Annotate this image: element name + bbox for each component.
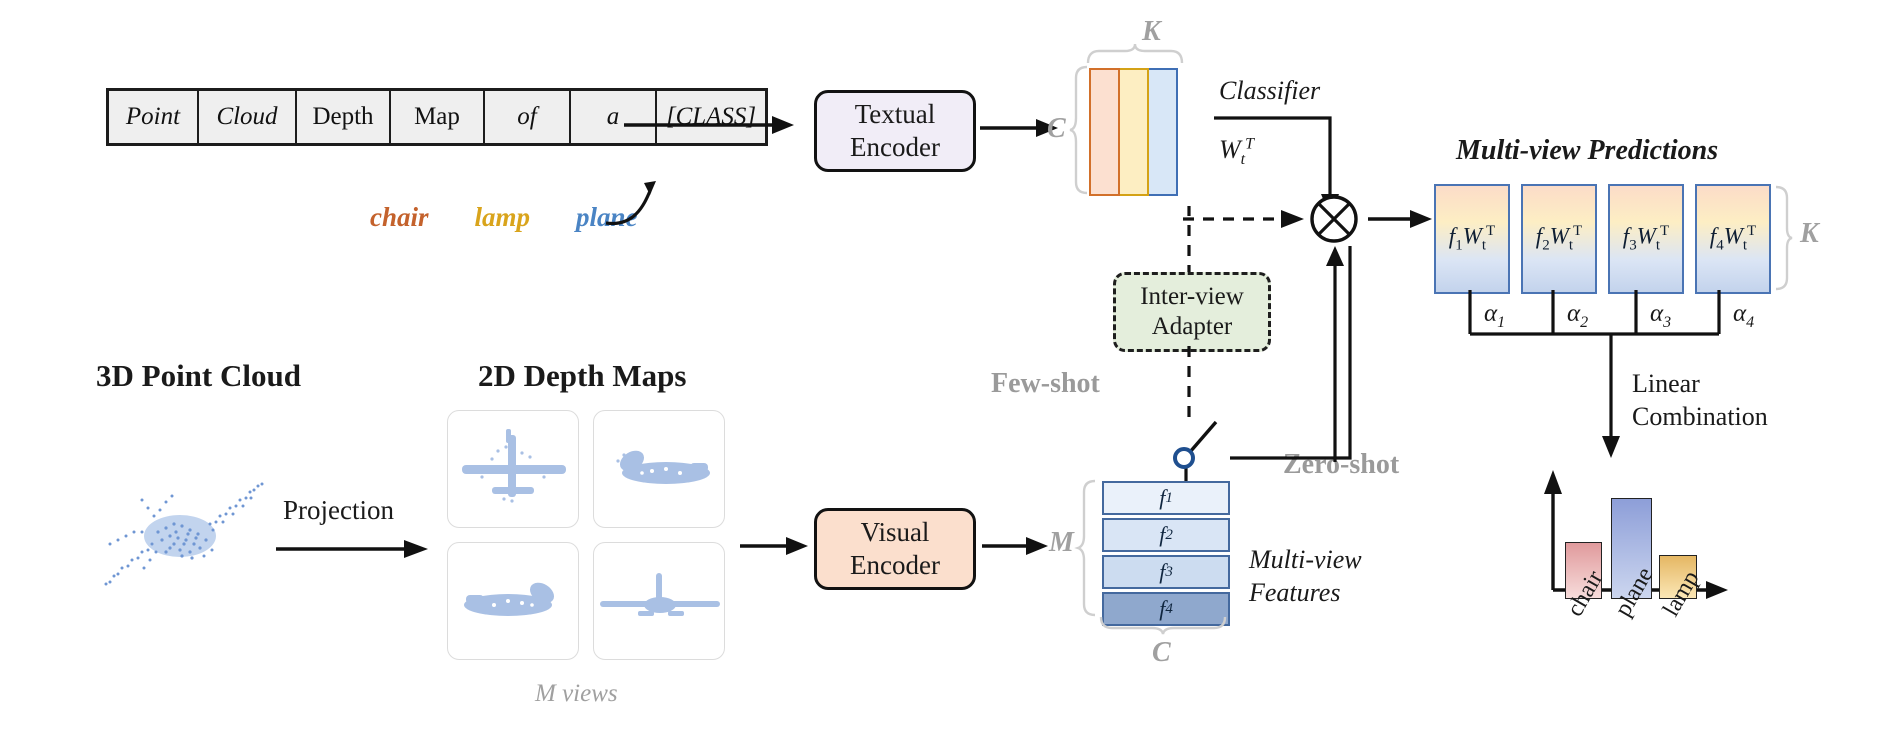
few-shot-label: Few-shot [991, 368, 1100, 400]
alpha-3: α3 [1650, 300, 1671, 332]
alpha-1-sub: 1 [1497, 314, 1505, 331]
pred3-w-sup: T [1660, 223, 1669, 239]
feature-3-sub: 3 [1165, 564, 1173, 581]
classifier-column-chair [1089, 68, 1120, 196]
alpha-3-sub: 3 [1663, 314, 1671, 331]
depth-map-grid [447, 410, 725, 660]
views-caption: M views [535, 680, 618, 708]
classifier-dim-c-label: C [1047, 113, 1066, 145]
alpha-4: α4 [1733, 300, 1754, 332]
classifier-weight-matrix [1089, 68, 1178, 192]
prompt-token-4: of [485, 91, 571, 143]
linear-combination-label: Linear Combination [1632, 368, 1768, 433]
adapter-label-1: Inter-view [1140, 282, 1244, 312]
classifier-k-brace [1087, 44, 1183, 64]
depth-plane-top-view [448, 411, 579, 528]
features-c-brace [1100, 617, 1228, 635]
feature-row-3: f3 [1102, 555, 1230, 589]
tensor-product-operator [1305, 190, 1363, 248]
textual-encoder-label-1: Textual [855, 98, 936, 131]
prediction-box-3: f3WtT [1608, 184, 1684, 294]
predictions-dim-k-label: K [1800, 218, 1819, 250]
depth-map-tile-1[interactable] [447, 410, 579, 528]
arrow-to-final-prediction [1600, 334, 1622, 460]
features-dim-c-label: C [1152, 637, 1171, 669]
textual-encoder-box[interactable]: Textual Encoder [814, 90, 976, 172]
pred1-w-sup: T [1486, 223, 1495, 239]
class-word-list: chair lamp plane [370, 202, 638, 233]
class-word-lamp: lamp [475, 202, 531, 233]
pred1-w: W [1463, 224, 1482, 249]
alpha-3-base: α [1650, 300, 1663, 327]
alpha-4-sub: 4 [1746, 314, 1754, 331]
figure-canvas: Point Cloud Depth Map of a [CLASS] chair… [0, 0, 1882, 746]
linear-combination-line2: Combination [1632, 401, 1768, 434]
classifier-column-plane [1149, 68, 1178, 196]
alpha-1: α1 [1484, 300, 1505, 332]
pred3-f-sub: 3 [1629, 238, 1637, 254]
arrow-projection [276, 536, 428, 562]
pred3-w: W [1637, 224, 1656, 249]
prompt-token-3: Map [391, 91, 485, 143]
depth-maps-title: 2D Depth Maps [478, 358, 686, 394]
arrow-operator-to-predictions [1368, 206, 1432, 232]
adapter-label-2: Adapter [1152, 312, 1233, 342]
inter-view-adapter-box[interactable]: Inter-view Adapter [1113, 272, 1271, 352]
classifier-title: Classifier [1219, 76, 1320, 106]
arrow-visual-encoder-to-features [982, 533, 1048, 559]
alpha-4-base: α [1733, 300, 1746, 327]
visual-encoder-box[interactable]: Visual Encoder [814, 508, 976, 590]
pred2-w-sub: t [1569, 238, 1573, 254]
depth-plane-front-view [594, 543, 725, 660]
prediction-box-4: f4WtT [1695, 184, 1771, 294]
arrow-prompt-to-textual-encoder [624, 112, 794, 138]
features-caption-line1: Multi-view [1249, 544, 1362, 577]
adapter-dashed-down-line [1186, 346, 1192, 422]
pred4-w-sup: T [1747, 223, 1756, 239]
alpha-2-sub: 2 [1580, 314, 1588, 331]
arrow-adapter-to-operator-dashed [1183, 206, 1305, 232]
feature-2-sub: 2 [1165, 527, 1173, 544]
pred4-w: W [1724, 224, 1743, 249]
prompt-token-0: Point [109, 91, 199, 143]
alpha-1-base: α [1484, 300, 1497, 327]
pred1-w-sub: t [1482, 238, 1486, 254]
depth-map-tile-2[interactable] [593, 410, 725, 528]
multi-view-features-caption: Multi-view Features [1249, 544, 1362, 609]
depth-plane-side-mirrored-view [448, 543, 579, 660]
pred3-w-sub: t [1656, 238, 1660, 254]
pred2-w: W [1550, 224, 1569, 249]
classifier-column-lamp [1120, 68, 1149, 196]
feature-1-sub: 1 [1165, 490, 1173, 507]
arrow-zeroshot-to-operator [1324, 246, 1346, 462]
feature-row-1: f1 [1102, 481, 1230, 515]
visual-encoder-label-1: Visual [861, 516, 930, 549]
multi-view-feature-stack: f1 f2 f3 f4 [1102, 481, 1230, 626]
class-injection-arrow [600, 165, 740, 235]
feature-4-sub: 4 [1165, 601, 1173, 618]
features-m-brace [1078, 480, 1096, 616]
alpha-2: α2 [1567, 300, 1588, 332]
classifier-c-brace [1070, 66, 1088, 194]
visual-encoder-label-2: Encoder [850, 549, 940, 582]
prompt-token-2: Depth [297, 91, 391, 143]
prediction-box-1: f1WtT [1434, 184, 1510, 294]
features-dim-m-label: M [1049, 527, 1074, 559]
pred2-w-sup: T [1573, 223, 1582, 239]
depth-map-tile-3[interactable] [447, 542, 579, 660]
predictions-k-brace [1775, 186, 1793, 290]
arrow-depthmaps-to-visual-encoder [740, 533, 808, 559]
textual-encoder-label-2: Encoder [850, 131, 940, 164]
projection-label: Projection [283, 495, 394, 526]
pred4-w-sub: t [1743, 238, 1747, 254]
feature-row-2: f2 [1102, 518, 1230, 552]
alpha-2-base: α [1567, 300, 1580, 327]
features-caption-line2: Features [1249, 577, 1362, 610]
multi-view-prediction-row: f1WtT f2WtT f3WtT f4WtT [1434, 184, 1771, 294]
pred1-f-sub: 1 [1455, 238, 1463, 254]
pred4-f-sub: 4 [1716, 238, 1724, 254]
class-word-chair: chair [370, 202, 429, 233]
pred2-f-sub: 2 [1542, 238, 1550, 254]
linear-combination-line1: Linear [1632, 368, 1768, 401]
point-cloud-plane [70, 440, 280, 620]
prompt-token-1: Cloud [199, 91, 297, 143]
depth-plane-side-view [594, 411, 725, 528]
prediction-box-2: f2WtT [1521, 184, 1597, 294]
predictions-title: Multi-view Predictions [1456, 135, 1718, 167]
adapter-dashed-up-line [1186, 206, 1192, 276]
depth-map-tile-4[interactable] [593, 542, 725, 660]
point-cloud-title: 3D Point Cloud [96, 358, 301, 394]
